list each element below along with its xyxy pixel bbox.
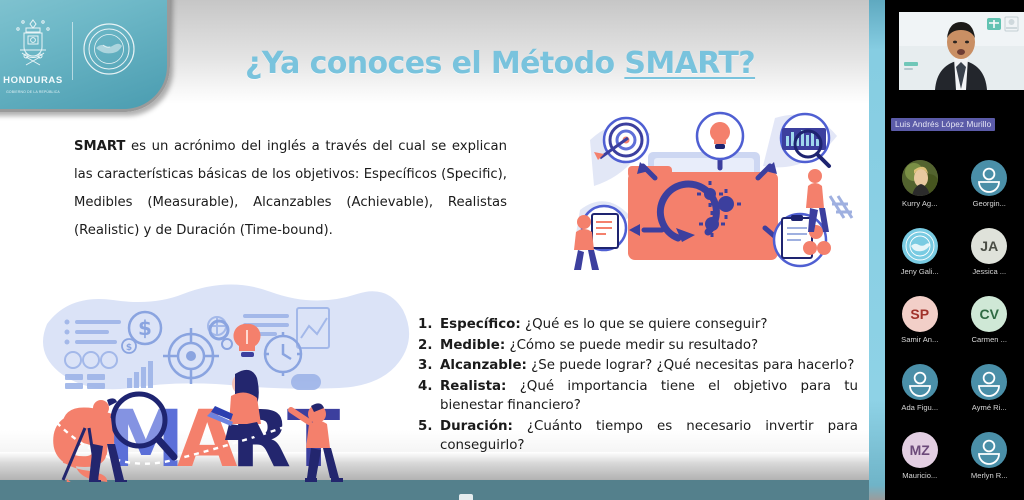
participant-name: Carmen ... [972, 335, 1007, 344]
avatar-initials: CV [971, 296, 1007, 332]
brand-country: HONDURAS [2, 75, 64, 86]
institution-seal-icon [81, 21, 137, 82]
brand-logos: HONDURAS GOBIERNO DE LA REPÚBLICA [2, 2, 162, 100]
avatar [971, 432, 1007, 468]
avatar-initials-text: MZ [910, 442, 930, 458]
page-title: ¿Ya conoces el Método SMART? [150, 46, 850, 81]
person-icon [902, 364, 938, 400]
paragraph-lead: SMART [74, 139, 125, 154]
active-speaker-tile[interactable]: Luis Andrés López Murillo [885, 0, 1024, 150]
participant-name: Merlyn R... [971, 471, 1008, 480]
app-root: HONDURAS GOBIERNO DE LA REPÚBLICA [0, 0, 1024, 500]
list-item-body: Específico: ¿Qué es lo que se quiere con… [440, 315, 858, 335]
list-item-body: Medible: ¿Cómo se puede medir su resulta… [440, 336, 858, 356]
participant-tile[interactable]: Jeny Gali... [885, 228, 955, 288]
participant-tile[interactable]: Ada Figu... [885, 364, 955, 424]
person-icon [971, 432, 1007, 468]
list-item: 5. Duración: ¿Cuánto tiempo es necesario… [418, 417, 858, 456]
person-icon [971, 160, 1007, 196]
list-item-number: 3. [418, 356, 440, 376]
list-item-term: Duración: [440, 419, 513, 434]
brand-plate: HONDURAS GOBIERNO DE LA REPÚBLICA [0, 0, 170, 112]
avatar-initials: MZ [902, 432, 938, 468]
participant-name: Samir An... [901, 335, 938, 344]
participant-tile[interactable]: Aymé Ri... [955, 364, 1024, 424]
participant-name: Ada Figu... [901, 403, 938, 412]
list-item-term: Alcanzable: [440, 358, 527, 373]
slide-bottom-marker [459, 494, 473, 500]
avatar [902, 364, 938, 400]
participant-name: Jeny Gali... [901, 267, 939, 276]
participant-name: Kurry Ag... [902, 199, 937, 208]
svg-text:$: $ [138, 316, 152, 340]
participant-name: Mauricio... [902, 471, 937, 480]
list-item-text: ¿Qué es lo que se quiere conseguir? [521, 317, 768, 332]
participant-grid[interactable]: Kurry Ag... Georgin... [885, 160, 1024, 500]
smart-goals-word-illustration: $ $ [15, 282, 415, 482]
list-item-term: Específico: [440, 317, 521, 332]
slide-bottom-bar [0, 480, 869, 500]
participants-rail[interactable]: Luis Andrés López Murillo Kurry Ag... [885, 0, 1024, 500]
honduras-coat-of-arms-icon: HONDURAS GOBIERNO DE LA REPÚBLICA [2, 14, 64, 88]
avatar-initials-text: SP [910, 306, 929, 322]
list-item-term: Realista: [440, 379, 506, 394]
list-item: 4. Realista: ¿Qué importancia tiene el o… [418, 377, 858, 416]
list-item-body: Realista: ¿Qué importancia tiene el obje… [440, 377, 858, 416]
active-speaker-name: Luis Andrés López Murillo [891, 118, 995, 131]
participant-tile[interactable]: Georgin... [955, 160, 1024, 220]
list-item: 1. Específico: ¿Qué es lo que se quiere … [418, 315, 858, 335]
list-item: 2. Medible: ¿Cómo se puede medir su resu… [418, 336, 858, 356]
list-item-text: ¿Se puede lograr? ¿Qué necesitas para ha… [527, 358, 854, 373]
intro-paragraph: SMART es un acrónimo del inglés a través… [74, 133, 507, 245]
list-item-number: 4. [418, 377, 440, 416]
participant-tile[interactable]: JA Jessica ... [955, 228, 1024, 288]
brand-ministry: GOBIERNO DE LA REPÚBLICA [2, 90, 64, 94]
screen-share-edge-highlight [869, 0, 885, 500]
participant-tile[interactable]: CV Carmen ... [955, 296, 1024, 356]
person-icon [971, 364, 1007, 400]
avatar [971, 364, 1007, 400]
list-item-body: Duración: ¿Cuánto tiempo es necesario in… [440, 417, 858, 456]
paragraph-rest: es un acrónimo del inglés a través del c… [74, 139, 507, 238]
participant-name: Aymé Ri... [972, 403, 1007, 412]
svg-text:$: $ [126, 343, 132, 353]
participant-tile[interactable]: Merlyn R... [955, 432, 1024, 492]
active-speaker-video [899, 12, 1024, 90]
avatar [971, 160, 1007, 196]
list-item-term: Medible: [440, 338, 505, 353]
list-item-body: Alcanzable: ¿Se puede lograr? ¿Qué neces… [440, 356, 858, 376]
avatar-initials-text: JA [980, 238, 998, 254]
list-item-number: 5. [418, 417, 440, 456]
avatar-initials-text: CV [980, 306, 999, 322]
participant-tile[interactable]: MZ Mauricio... [885, 432, 955, 492]
institution-seal-icon [902, 228, 938, 264]
title-prefix: ¿Ya conoces el Método [245, 46, 624, 81]
participant-tile[interactable]: Kurry Ag... [885, 160, 955, 220]
avatar-initials: JA [971, 228, 1007, 264]
smart-criteria-list: 1. Específico: ¿Qué es lo que se quiere … [418, 315, 858, 457]
participant-tile[interactable]: SP Samir An... [885, 296, 955, 356]
list-item-text: ¿Cómo se puede medir su resultado? [505, 338, 758, 353]
list-item: 3. Alcanzable: ¿Se puede lograr? ¿Qué ne… [418, 356, 858, 376]
participant-name: Georgin... [973, 199, 1006, 208]
shared-screen-slide: HONDURAS GOBIERNO DE LA REPÚBLICA [0, 0, 869, 500]
list-item-number: 2. [418, 336, 440, 356]
business-process-cycle-illustration [560, 100, 869, 280]
avatar [902, 160, 938, 196]
avatar-initials: SP [902, 296, 938, 332]
participant-name: Jessica ... [972, 267, 1006, 276]
title-highlight: SMART? [624, 46, 755, 81]
avatar [902, 228, 938, 264]
brand-divider [72, 22, 73, 80]
list-item-number: 1. [418, 315, 440, 335]
